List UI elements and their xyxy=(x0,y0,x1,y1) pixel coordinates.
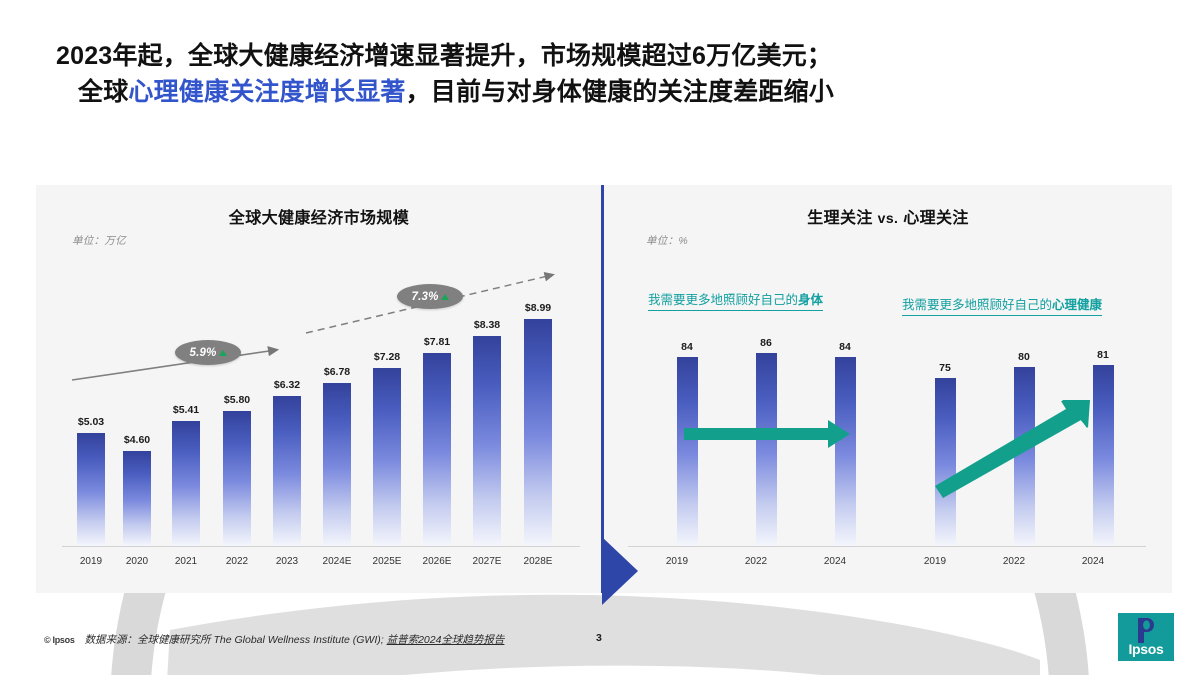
label-physical-prefix: 我需要更多地照顾好自己的 xyxy=(648,293,798,307)
left-bars-plot: $5.03 $4.60 $5.41 $5.80 $6.32 $6.78 $7.2… xyxy=(62,415,580,546)
headline-line-2-prefix: 全球 xyxy=(78,78,128,106)
headline-highlight: 心理健康关注度增长显著 xyxy=(128,78,405,106)
label-mental-health: 我需要更多地照顾好自己的心理健康 xyxy=(902,294,1102,316)
ipsos-wordmark: Ipsos xyxy=(1118,641,1174,657)
x-label-physical-2022: 2022 xyxy=(733,556,779,567)
bar-value-label: $4.60 xyxy=(108,434,166,446)
charts-card: 全球大健康经济市场规模 单位：万亿 5.9% 7.3% xyxy=(36,185,1172,593)
divider-arrow-icon xyxy=(602,537,638,605)
right-title-vs: vs. xyxy=(878,210,899,226)
bar-2023[interactable] xyxy=(273,396,301,546)
source-note: 数据来源：全球健康研究所 The Global Wellness Institu… xyxy=(85,632,505,647)
bar-value-label: $5.41 xyxy=(157,404,215,416)
bar-2027E[interactable] xyxy=(473,336,501,546)
label-physical-emphasis: 身体 xyxy=(798,293,823,307)
bar-2021[interactable] xyxy=(172,421,200,546)
slide-root: 2023年起，全球大健康经济增速显著提升，市场规模超过6万亿美元； 全球心理健康… xyxy=(0,0,1200,675)
x-label-mental-2019: 2019 xyxy=(912,556,958,567)
x-label-2028E: 2028E xyxy=(509,556,567,567)
cagr-pill-2: 7.3% xyxy=(397,284,463,309)
rising-arrow-icon xyxy=(935,401,1089,498)
left-panel: 全球大健康经济市场规模 单位：万亿 5.9% 7.3% xyxy=(36,185,602,593)
x-label-2027E: 2027E xyxy=(458,556,516,567)
ipsos-logo: Ipsos xyxy=(1118,613,1174,661)
bar-value-label: $6.32 xyxy=(258,379,316,391)
left-x-axis xyxy=(62,546,580,547)
x-label-mental-2022: 2022 xyxy=(991,556,1037,567)
page-title: 2023年起，全球大健康经济增速显著提升，市场规模超过6万亿美元； 全球心理健康… xyxy=(56,38,1156,110)
bar-value-label: $8.99 xyxy=(509,302,567,314)
headline-line-1-text: 2023年起，全球大健康经济增速显著提升，市场规模超过6万亿美元； xyxy=(56,42,832,70)
cagr-pill-1-value: 5.9% xyxy=(189,347,216,359)
headline-line-2-suffix: ，目前与对身体健康的关注度差距缩小 xyxy=(406,78,834,106)
copyright-mark: © Ipsos xyxy=(44,635,75,645)
right-x-axis xyxy=(628,546,1146,547)
headline-line-1: 2023年起，全球大健康经济增速显著提升，市场规模超过6万亿美元； xyxy=(56,38,1156,74)
bar-2022[interactable] xyxy=(223,411,251,546)
source-note-main: 数据来源：全球健康研究所 The Global Wellness Institu… xyxy=(85,634,387,646)
bar-value-label: $7.28 xyxy=(358,351,416,363)
bar-value-label: $7.81 xyxy=(408,336,466,348)
bar-value-label: $5.80 xyxy=(208,394,266,406)
x-label-2021: 2021 xyxy=(157,556,215,567)
right-title-part-b: 心理关注 xyxy=(903,210,969,227)
bar-value-label: $5.03 xyxy=(62,416,120,428)
triangle-up-icon xyxy=(219,350,227,356)
triangle-up-icon xyxy=(441,294,449,300)
bar-value-label: $8.38 xyxy=(458,319,516,331)
bar-2024E[interactable] xyxy=(323,383,351,546)
bar-2028E[interactable] xyxy=(524,319,552,546)
right-trend-arrows xyxy=(646,340,1146,546)
x-label-mental-2024: 2024 xyxy=(1070,556,1116,567)
source-note-link: 益普索2024全球趋势报告 xyxy=(387,634,505,646)
label-mental-emphasis: 心理健康 xyxy=(1052,298,1102,312)
right-panel-title: 生理关注 vs. 心理关注 xyxy=(604,204,1172,228)
ipsos-face-icon xyxy=(1134,618,1158,643)
bar-2026E[interactable] xyxy=(423,353,451,546)
panel-divider xyxy=(601,185,604,593)
bar-2020[interactable] xyxy=(123,451,151,546)
cagr-pill-1: 5.9% xyxy=(175,340,241,365)
bar-2019[interactable] xyxy=(77,433,105,546)
bar-2025E[interactable] xyxy=(373,368,401,546)
bar-value-label: $6.78 xyxy=(308,366,366,378)
right-panel-unit: 单位：% xyxy=(646,233,688,248)
page-number: 3 xyxy=(596,632,602,644)
x-label-physical-2024: 2024 xyxy=(812,556,858,567)
right-panel: 生理关注 vs. 心理关注 单位：% 我需要更多地照顾好自己的身体 我需要更多地… xyxy=(604,185,1172,593)
headline-line-2: 全球心理健康关注度增长显著，目前与对身体健康的关注度差距缩小 xyxy=(56,74,1156,110)
cagr-pill-2-value: 7.3% xyxy=(411,291,438,303)
right-title-part-a: 生理关注 xyxy=(807,210,873,227)
x-label-physical-2019: 2019 xyxy=(654,556,700,567)
flat-arrow-icon xyxy=(684,420,850,448)
footer: © Ipsos 数据来源：全球健康研究所 The Global Wellness… xyxy=(44,632,504,647)
label-mental-prefix: 我需要更多地照顾好自己的 xyxy=(902,298,1052,312)
label-physical-health: 我需要更多地照顾好自己的身体 xyxy=(648,289,823,311)
